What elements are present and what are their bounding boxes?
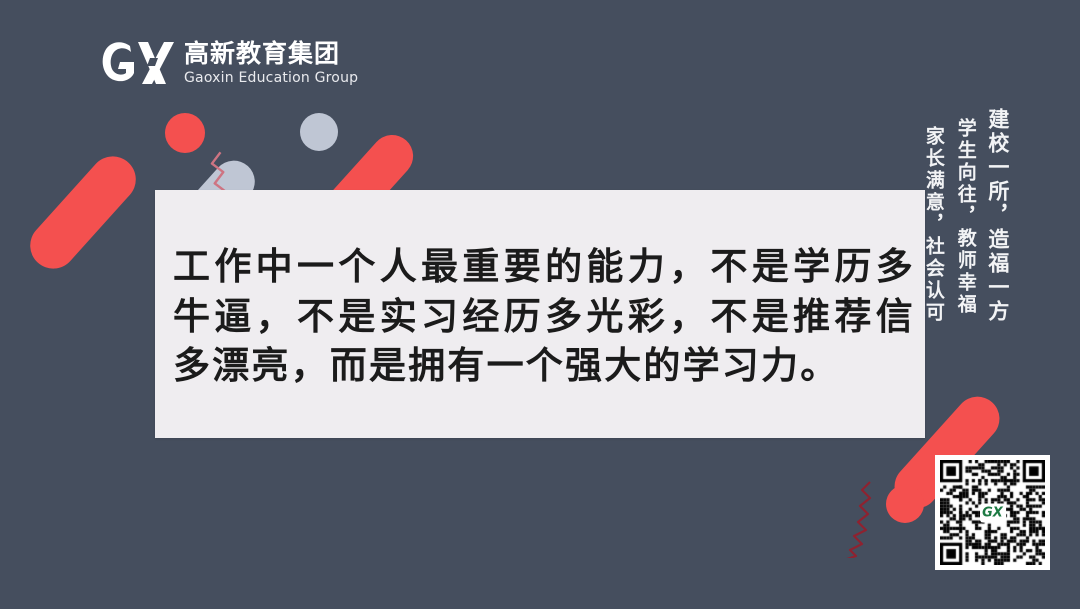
slogan-column-2: 学生向往，教师幸福 — [954, 118, 976, 316]
brand-logo: 高新教育集团 Gaoxin Education Group — [100, 38, 358, 88]
zigzag-squiggle-bottom-icon — [800, 478, 880, 558]
brand-name-en: Gaoxin Education Group — [184, 71, 358, 85]
brand-logo-text: 高新教育集团 Gaoxin Education Group — [184, 41, 358, 85]
circle-red-upper-left-shape — [165, 113, 205, 153]
circle-gray-upper-left-shape — [300, 113, 338, 151]
quote-text: 工作中一个人最重要的能力，不是学历多牛逼，不是实习经历多光彩，不是推荐信多漂亮，… — [173, 242, 915, 391]
capsule-red-upper-left-shape — [21, 147, 146, 278]
slogan-group: 建校一所，造福一方 学生向往，教师幸福 家长满意，社会认可 — [922, 108, 1010, 324]
qr-code[interactable]: GX — [935, 455, 1050, 570]
slogan-column-1: 建校一所，造福一方 — [986, 108, 1010, 324]
brand-name-cn: 高新教育集团 — [184, 41, 358, 66]
poster-canvas: 高新教育集团 Gaoxin Education Group 工作中一个人最重要的… — [0, 0, 1080, 609]
circle-red-lower-right-shape — [886, 485, 924, 523]
quote-card: 工作中一个人最重要的能力，不是学历多牛逼，不是实习经历多光彩，不是推荐信多漂亮，… — [155, 190, 925, 438]
slogan-column-3: 家长满意，社会认可 — [922, 126, 944, 324]
gx-monogram-icon — [100, 38, 174, 88]
qr-code-center-logo: GX — [980, 503, 1006, 522]
